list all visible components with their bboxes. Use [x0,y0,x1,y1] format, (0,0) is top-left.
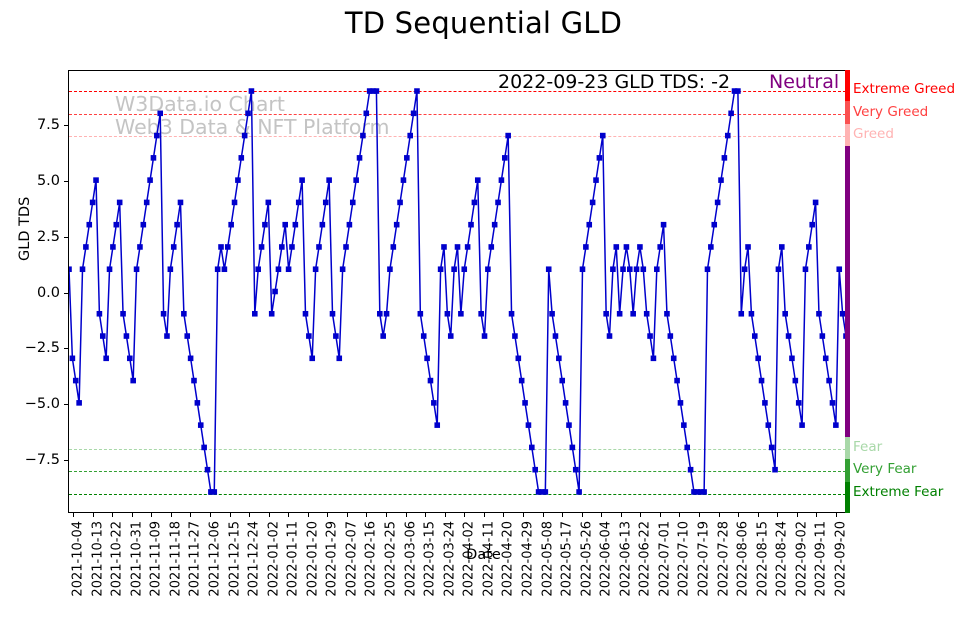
data-point [374,88,380,94]
data-point [225,244,231,250]
y-tick-mark [64,404,69,405]
y-axis-label: GLD TDS [17,197,33,261]
data-point [620,266,626,272]
data-point [245,111,251,117]
data-point [93,177,99,183]
x-tick-mark [269,512,270,517]
data-point [286,266,292,272]
zone-label-very-greed: Very Greed [853,104,928,120]
data-point [823,356,829,362]
data-point [553,333,559,339]
data-point [681,422,687,428]
data-point [188,356,194,362]
x-tick-mark [523,512,524,517]
colorbar-segment-greed [845,124,850,146]
data-point [715,200,721,206]
data-point [404,155,410,161]
data-point [333,333,339,339]
data-point [516,356,522,362]
y-tick-label: 0.0 [37,285,60,301]
data-point [252,311,258,317]
data-point [522,400,528,406]
data-point [755,356,761,362]
data-point [191,378,197,384]
x-tick-mark [582,512,583,517]
data-point [279,244,285,250]
data-point [117,200,123,206]
data-point [266,200,272,206]
x-tick-mark [190,512,191,517]
x-tick-mark [230,512,231,517]
data-point [637,244,643,250]
y-tick-mark [64,460,69,461]
data-point [120,311,126,317]
x-tick-mark [386,512,387,517]
colorbar-segment-neutral [845,146,850,437]
data-point [83,244,89,250]
data-point [600,133,606,139]
data-point [722,155,728,161]
data-point [492,222,498,228]
x-tick-mark [464,512,465,517]
data-point [205,467,211,473]
data-point [103,356,109,362]
data-point [752,333,758,339]
data-point [593,177,599,183]
data-point [759,378,765,384]
data-point [70,356,76,362]
data-point [272,289,278,295]
data-point [826,378,832,384]
plot-area: W3Data.io Chart Web3 Data & NFT Platform… [68,70,847,513]
data-point [793,378,799,384]
data-point [411,111,417,117]
data-point [488,244,494,250]
data-point [181,311,187,317]
data-point [468,222,474,228]
data-point [742,266,748,272]
data-point [735,88,741,94]
data-point [86,222,92,228]
data-point [184,333,190,339]
data-point [772,467,778,473]
data-point [380,333,386,339]
data-point [347,222,353,228]
data-point [728,111,734,117]
data-point [725,133,731,139]
data-point [495,200,501,206]
x-tick-mark [836,512,837,517]
data-point [255,266,261,272]
x-tick-mark [562,512,563,517]
data-point [641,266,647,272]
x-tick-mark [777,512,778,517]
data-point [90,200,96,206]
chart-root: TD Sequential GLD W3Data.io Chart Web3 D… [0,0,967,633]
x-tick-mark [73,512,74,517]
x-tick-mark [719,512,720,517]
data-point [836,266,842,272]
data-point [485,266,491,272]
data-point [749,311,755,317]
data-point [313,266,319,272]
data-point [820,333,826,339]
data-point [519,378,525,384]
data-point [228,222,234,228]
x-tick-mark [445,512,446,517]
data-point [688,467,694,473]
data-point [215,266,221,272]
data-point [127,356,133,362]
data-point [377,311,383,317]
y-tick-label: −2.5 [25,340,60,356]
tds-line-series [69,71,846,512]
data-point [830,400,836,406]
data-point [627,266,633,272]
data-point [590,200,596,206]
colorbar-segment-very-greed [845,101,850,123]
x-tick-mark [327,512,328,517]
data-point [455,244,461,250]
latest-value-annotation: 2022-09-23 GLD TDS: -2 [498,71,730,93]
data-point [211,489,217,495]
data-point [303,311,309,317]
data-point [559,378,565,384]
data-point [718,177,724,183]
data-point [505,133,511,139]
x-tick-mark [249,512,250,517]
data-point [796,400,802,406]
colorbar-segment-fear [845,437,850,459]
data-point [218,244,224,250]
data-point [198,422,204,428]
data-point [326,177,332,183]
data-point [502,155,508,161]
data-point [441,244,447,250]
data-point [242,133,248,139]
y-tick-label: 5.0 [37,173,60,189]
data-point [813,200,819,206]
data-point [69,266,72,272]
y-tick-mark [64,125,69,126]
data-point [100,333,106,339]
data-point [461,266,467,272]
data-point [668,333,674,339]
data-point [320,222,326,228]
colorbar-segment-extreme-fear [845,482,850,513]
data-point [157,111,163,117]
data-point [418,311,424,317]
data-point [306,333,312,339]
data-point [414,88,420,94]
data-point [833,422,839,428]
data-point [309,356,315,362]
data-point [445,311,451,317]
data-point [137,244,143,250]
data-point [809,222,815,228]
data-point [249,88,255,94]
data-point [499,177,505,183]
data-point [478,311,484,317]
data-point [509,311,515,317]
data-point [80,266,86,272]
data-point [259,244,265,250]
data-point [664,311,670,317]
data-point [238,155,244,161]
data-point [124,333,130,339]
zone-label-greed: Greed [853,126,894,142]
data-point [110,244,116,250]
x-tick-mark [699,512,700,517]
data-point [563,400,569,406]
data-point [678,400,684,406]
data-point [603,311,609,317]
data-point [424,356,430,362]
data-point [684,445,690,451]
data-point [580,266,586,272]
x-tick-mark [151,512,152,517]
x-tick-mark [347,512,348,517]
data-point [276,266,282,272]
data-point [164,333,170,339]
x-tick-mark [425,512,426,517]
data-point [711,222,717,228]
data-point [769,445,775,451]
data-point [634,266,640,272]
data-point [556,356,562,362]
data-point [786,333,792,339]
y-tick-label: −7.5 [25,452,60,468]
zone-label-very-fear: Very Fear [853,461,916,477]
x-tick-mark [308,512,309,517]
data-point [512,333,518,339]
data-point [391,244,397,250]
data-point [232,200,238,206]
x-tick-mark [601,512,602,517]
x-tick-mark [640,512,641,517]
data-point [222,266,228,272]
data-point [674,378,680,384]
data-point [644,311,650,317]
colorbar-segment-extreme-greed [845,70,850,101]
data-point [583,244,589,250]
zone-label-fear: Fear [853,439,882,455]
x-tick-mark [621,512,622,517]
data-point [201,445,207,451]
data-point [617,311,623,317]
data-point [570,445,576,451]
data-point [289,244,295,250]
y-tick-label: 2.5 [37,229,60,245]
data-point [134,266,140,272]
data-point [566,422,572,428]
data-point [262,222,268,228]
data-point [438,266,444,272]
data-point [336,356,342,362]
data-point [701,489,707,495]
data-point [458,311,464,317]
data-point [353,177,359,183]
data-point [384,311,390,317]
data-point [803,266,809,272]
data-point [394,222,400,228]
data-point [651,356,657,362]
data-point [397,200,403,206]
data-point [799,422,805,428]
data-point [144,200,150,206]
plot-inner: W3Data.io Chart Web3 Data & NFT Platform [69,71,846,512]
sentiment-colorbar [845,70,850,513]
data-point [323,200,329,206]
x-tick-mark [484,512,485,517]
data-point [73,378,79,384]
data-point [141,222,147,228]
x-tick-mark [366,512,367,517]
data-point [661,222,667,228]
x-tick-mark [816,512,817,517]
data-point [613,244,619,250]
data-point [282,222,288,228]
data-point [330,311,336,317]
data-point [350,200,356,206]
sentiment-label: Neutral [769,71,839,93]
data-point [806,244,812,250]
zone-label-extreme-greed: Extreme Greed [853,81,955,97]
data-point [546,266,552,272]
data-point [434,422,440,428]
data-point [97,311,103,317]
x-tick-mark [738,512,739,517]
series-polyline [69,91,846,492]
data-point [296,200,302,206]
x-tick-mark [112,512,113,517]
data-point [647,333,653,339]
data-point [738,311,744,317]
data-point [630,311,636,317]
data-point [708,244,714,250]
data-point [671,356,677,362]
data-point [340,266,346,272]
data-point [543,489,549,495]
data-point [431,400,437,406]
y-tick-mark [64,181,69,182]
data-point [363,111,369,117]
data-point [107,266,113,272]
data-point [171,244,177,250]
x-tick-mark [132,512,133,517]
data-point [782,311,788,317]
data-point [610,266,616,272]
data-point [161,311,167,317]
data-point [195,400,201,406]
data-point [573,467,579,473]
y-tick-label: 7.5 [37,117,60,133]
data-point [475,177,481,183]
x-tick-mark [93,512,94,517]
data-point [549,311,555,317]
data-point [130,378,136,384]
data-point [816,311,822,317]
x-tick-mark [679,512,680,517]
data-point [465,244,471,250]
x-tick-mark [503,512,504,517]
colorbar-segment-very-fear [845,459,850,481]
x-tick-mark [660,512,661,517]
data-point [705,266,711,272]
data-point [343,244,349,250]
x-tick-mark [797,512,798,517]
data-point [472,200,478,206]
x-tick-mark [210,512,211,517]
data-point [147,177,153,183]
x-tick-mark [406,512,407,517]
data-point [421,333,427,339]
data-point [762,400,768,406]
x-tick-mark [288,512,289,517]
data-point [407,133,413,139]
zone-label-extreme-fear: Extreme Fear [853,484,943,500]
x-tick-mark [171,512,172,517]
y-tick-mark [64,348,69,349]
data-point [779,244,785,250]
data-point [235,177,241,183]
data-point [428,378,434,384]
data-point [293,222,299,228]
data-point [529,445,535,451]
data-point [299,177,305,183]
data-point [387,266,393,272]
x-tick-mark [543,512,544,517]
data-point [168,266,174,272]
data-point [451,266,457,272]
data-point [624,244,630,250]
data-point [448,333,454,339]
data-point [526,422,532,428]
data-point [174,222,180,228]
data-point [269,311,275,317]
series-markers [69,88,846,494]
data-point [532,467,538,473]
data-point [114,222,120,228]
data-point [401,177,407,183]
data-point [745,244,751,250]
data-point [597,155,603,161]
data-point [789,356,795,362]
data-point [360,133,366,139]
data-point [151,155,157,161]
data-point [482,333,488,339]
data-point [576,489,582,495]
x-tick-mark [758,512,759,517]
data-point [357,155,363,161]
data-point [607,333,613,339]
data-point [76,400,82,406]
data-point [766,422,772,428]
data-point [657,244,663,250]
data-point [776,266,782,272]
y-tick-label: −5.0 [25,396,60,412]
data-point [654,266,660,272]
data-point [586,222,592,228]
y-tick-mark [64,293,69,294]
x-axis-label: Date [0,547,967,563]
page-title: TD Sequential GLD [0,6,967,40]
y-tick-mark [64,237,69,238]
data-point [154,133,160,139]
data-point [316,244,322,250]
data-point [178,200,184,206]
